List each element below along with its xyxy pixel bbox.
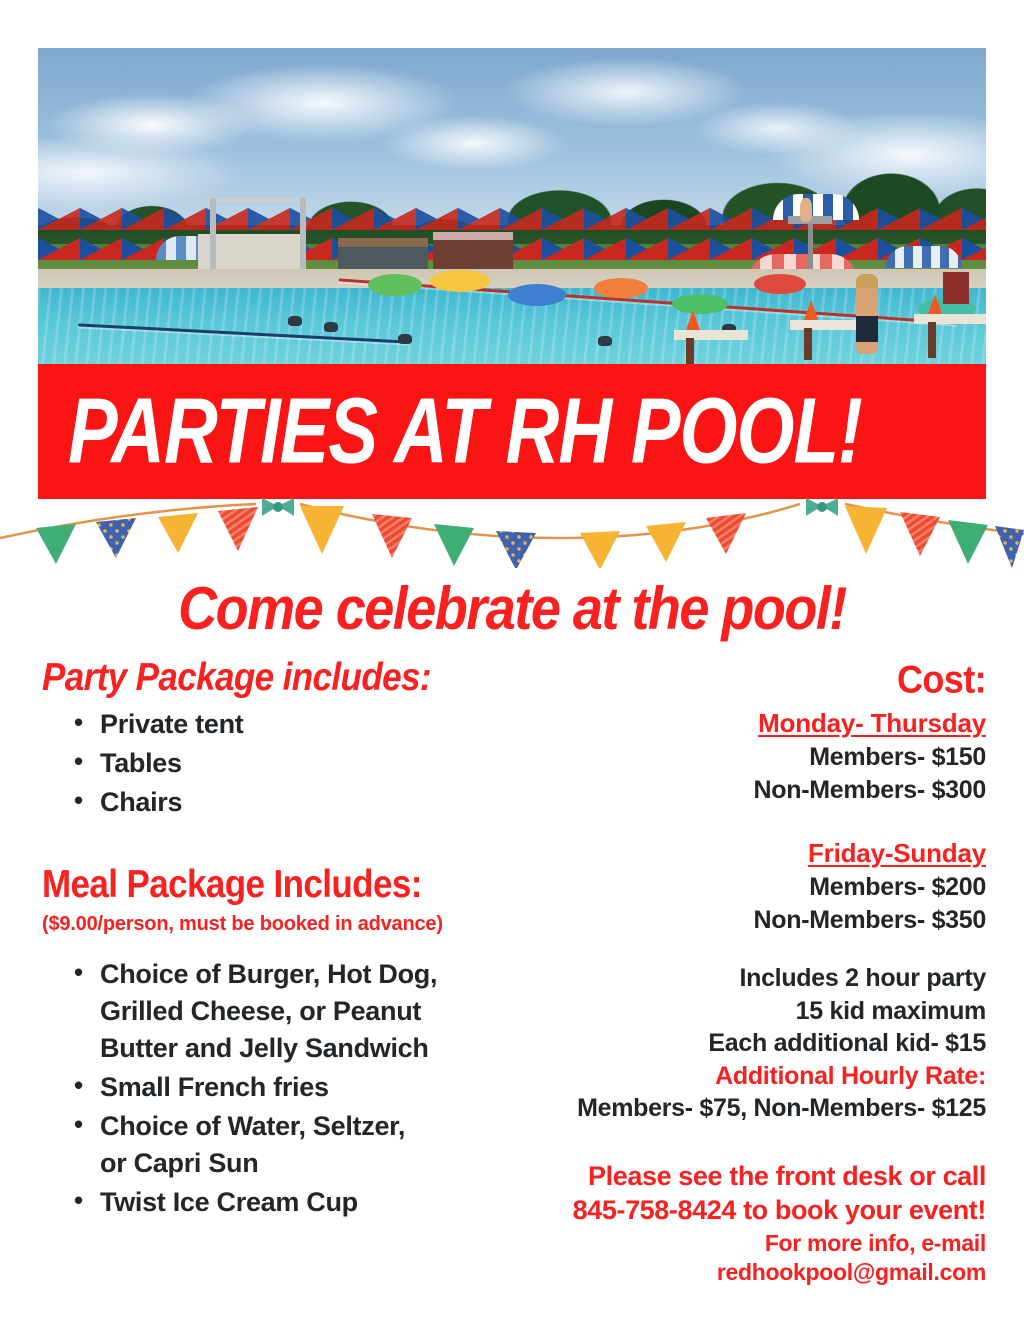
list-item-label: Private tent	[100, 709, 243, 739]
swimmer	[324, 322, 338, 332]
umbrella-blue-right	[886, 246, 962, 268]
rate-gap	[496, 806, 986, 832]
party-package-list: Private tent Tables Chairs	[42, 706, 522, 821]
meal-package-heading: Meal Package Includes:	[42, 863, 522, 907]
trash-can	[943, 272, 969, 304]
rate-non-members-weekend: Non-Members- $350	[496, 904, 986, 937]
contact-block: Please see the front desk or call 845-75…	[496, 1159, 986, 1289]
list-item: Choice of Water, Seltzer, or Capri Sun	[42, 1108, 522, 1182]
pool-float-yellow	[430, 270, 490, 292]
lifeguard	[800, 198, 812, 222]
starting-block-post	[804, 328, 812, 360]
pool-float-red	[754, 274, 806, 294]
traffic-cone	[928, 294, 942, 314]
starting-block-post	[928, 322, 936, 358]
list-item-label-cont: or Capri Sun	[100, 1145, 522, 1182]
rate-members-weekday: Members- $150	[496, 741, 986, 774]
contact-email[interactable]: For more info, e-mail redhookpool@gmail.…	[496, 1229, 986, 1289]
meal-package-note: ($9.00/person, must be booked in advance…	[42, 913, 522, 936]
contact-line-1: Please see the front desk or call	[496, 1159, 986, 1193]
list-item-label: Twist Ice Cream Cup	[100, 1184, 522, 1221]
list-item: Chairs	[42, 784, 522, 821]
starting-block	[914, 314, 986, 324]
cost-heading: Cost:	[496, 657, 986, 702]
list-item: Tables	[42, 745, 522, 782]
list-item-label: Tables	[100, 748, 182, 778]
pool-float-blue	[508, 284, 566, 306]
page-title: PARTIES AT RH POOL!	[68, 385, 862, 478]
swimmer	[398, 334, 412, 344]
section-gap	[42, 823, 522, 867]
list-item-label: Choice of Water, Seltzer,	[100, 1108, 522, 1145]
details-gap	[496, 936, 986, 962]
traffic-cone	[804, 300, 818, 320]
bunting-svg	[0, 498, 1024, 568]
swimmer	[288, 316, 302, 326]
starting-block-post	[686, 338, 694, 364]
list-item: Private tent	[42, 706, 522, 743]
list-item-label-cont: Butter and Jelly Sandwich	[100, 1030, 522, 1067]
left-column: Party Package includes: Private tent Tab…	[42, 660, 522, 1223]
detail-kid-max: 15 kid maximum	[496, 995, 986, 1028]
hourly-rate-values: Members- $75, Non-Members- $125	[496, 1092, 986, 1125]
traffic-cone	[686, 310, 700, 330]
detail-additional-kid: Each additional kid- $15	[496, 1027, 986, 1060]
meal-package-list: Choice of Burger, Hot Dog, Grilled Chees…	[42, 956, 522, 1221]
pool-photo	[38, 48, 986, 364]
pool-float-green	[368, 274, 422, 296]
list-item-label: Chairs	[100, 787, 182, 817]
list-item: Twist Ice Cream Cup	[42, 1184, 522, 1221]
rate-days-weekend: Friday-Sunday	[496, 838, 986, 869]
person-swim-trunks	[856, 316, 878, 342]
list-item-label: Small French fries	[100, 1069, 522, 1106]
rate-days-weekday: Monday- Thursday	[496, 708, 986, 739]
detail-duration: Includes 2 hour party	[496, 962, 986, 995]
title-banner: PARTIES AT RH POOL!	[38, 364, 986, 499]
diving-board	[208, 198, 308, 202]
list-item: Small French fries	[42, 1069, 522, 1106]
contact-phone[interactable]: 845-758-8424 to book your event!	[496, 1193, 986, 1227]
person-hair	[856, 274, 878, 288]
hourly-rate-heading: Additional Hourly Rate:	[496, 1060, 986, 1093]
party-package-heading: Party Package includes:	[42, 656, 522, 700]
headline: Come celebrate at the pool!	[0, 574, 1024, 643]
list-item: Choice of Burger, Hot Dog, Grilled Chees…	[42, 956, 522, 1067]
list-item-label-cont: Grilled Cheese, or Peanut	[100, 993, 522, 1030]
bow-right	[806, 498, 838, 516]
swimmer	[598, 336, 612, 346]
rate-members-weekend: Members- $200	[496, 871, 986, 904]
pool-float-green-2	[672, 294, 728, 314]
rate-non-members-weekday: Non-Members- $300	[496, 774, 986, 807]
right-column: Cost: Monday- Thursday Members- $150 Non…	[496, 660, 986, 1288]
pool-float-orange	[594, 278, 648, 298]
bunting-decoration	[0, 498, 1024, 568]
list-item-label: Choice of Burger, Hot Dog,	[100, 956, 522, 993]
bow-left	[262, 498, 294, 516]
